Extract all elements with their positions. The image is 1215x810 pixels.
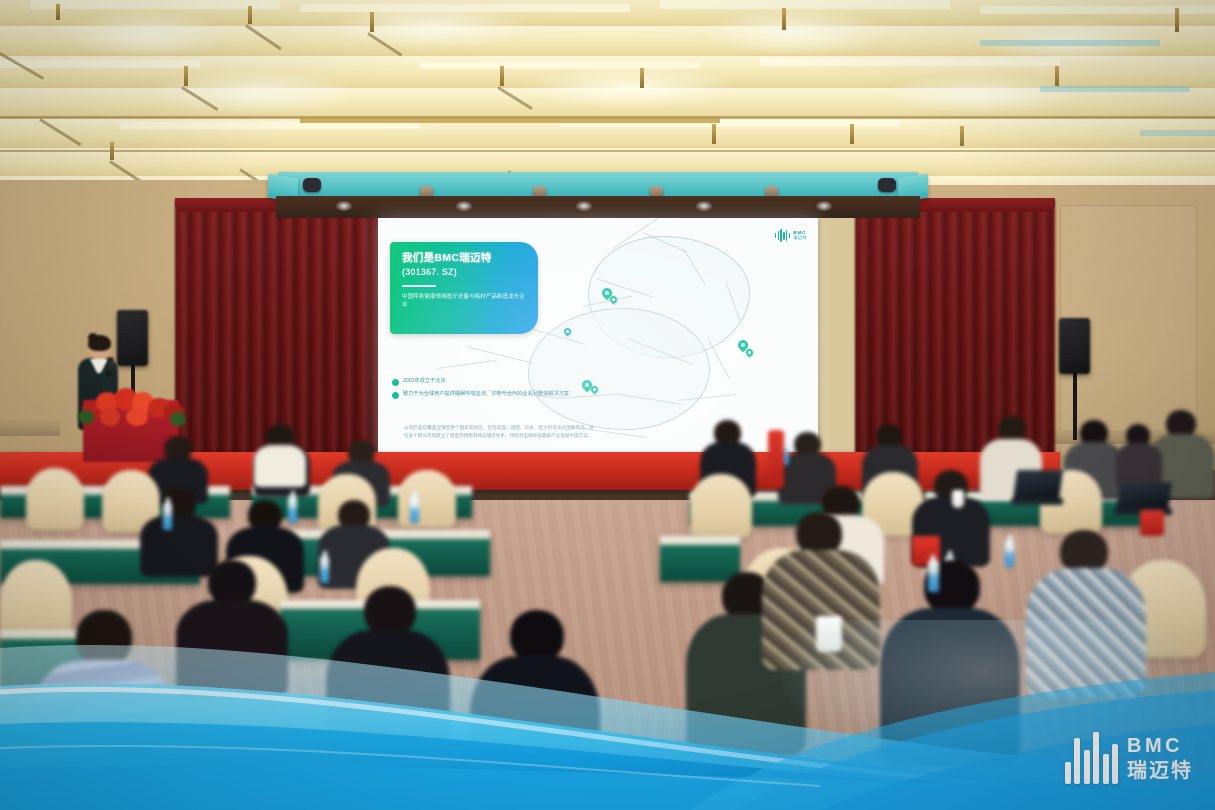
water-bottle	[320, 556, 329, 583]
refresh-icon	[392, 392, 399, 399]
map-pin-xinjiang	[564, 328, 571, 337]
slide-title-card: 我们是BMC瑞迈特 (301367. SZ) 中国呼吸健康领域医疗设备与耗材产品…	[390, 242, 538, 334]
bullet-text: 致力于为全球用户提供睡眠呼吸监测、诊断与治疗的全系列整体解决方案	[403, 391, 569, 399]
paper-cup	[816, 616, 842, 652]
wall-baseboard-left	[0, 420, 60, 436]
slide-title: 我们是BMC瑞迈特	[402, 252, 526, 265]
spotlight-icon	[303, 178, 321, 192]
audience-member	[254, 426, 306, 484]
audience-member	[1026, 530, 1146, 690]
audience-member	[176, 560, 288, 690]
slide-paragraph: 公司产品已覆盖全球百余个国家和地区，包括美国、德国、日本、意大利等发达国家市场，…	[404, 424, 594, 440]
chair	[398, 470, 456, 528]
location-pin-icon	[392, 379, 399, 386]
red-bottle	[768, 430, 784, 488]
slide-stock-code: (301367. SZ)	[402, 267, 526, 277]
audience-member-foreground	[880, 560, 1020, 760]
slide-title-description: 中国呼吸健康领域医疗设备与耗材产品制造龙头企业	[402, 293, 526, 309]
map-pin-beijing-secondary	[610, 296, 617, 305]
pa-speaker-right	[1059, 318, 1090, 374]
chair	[26, 468, 84, 530]
bullet-text: 2001年成立于北京	[403, 378, 446, 386]
pa-speaker-left	[117, 310, 148, 366]
audience-member-foreground	[30, 610, 175, 810]
water-bottle	[288, 496, 297, 523]
conference-photo: 我们是BMC瑞迈特 (301367. SZ) 中国呼吸健康领域医疗设备与耗材产品…	[0, 0, 1215, 810]
paper-cup	[952, 490, 964, 508]
slide-bullet-list: 2001年成立于北京 致力于为全球用户提供睡眠呼吸监测、诊断与治疗的全系列整体解…	[392, 378, 592, 404]
water-bottle	[163, 503, 172, 530]
screen-soffit	[276, 196, 920, 218]
list-item: 致力于为全球用户提供睡眠呼吸监测、诊断与治疗的全系列整体解决方案	[392, 391, 592, 399]
audience-member	[140, 488, 218, 570]
list-item: 2001年成立于北京	[392, 378, 592, 386]
flower-arrangement	[78, 388, 190, 430]
map-pin-tibet-secondary	[591, 386, 598, 395]
map-pin-guangdong-secondary	[746, 349, 753, 358]
water-bottle	[928, 560, 939, 592]
audience-member-foreground	[470, 610, 600, 810]
title-divider	[402, 285, 436, 287]
audience-member	[1116, 424, 1162, 484]
ceiling-accent-band	[278, 172, 918, 198]
audience-member-foreground	[326, 586, 450, 766]
slide-brand-logo: BMC 瑞迈特	[775, 229, 807, 242]
spotlight-icon	[878, 178, 896, 192]
waveform-icon	[775, 229, 791, 242]
chair	[690, 474, 752, 538]
slide-logo-brand-cn: 瑞迈特	[793, 236, 807, 240]
water-bottle	[410, 496, 419, 523]
